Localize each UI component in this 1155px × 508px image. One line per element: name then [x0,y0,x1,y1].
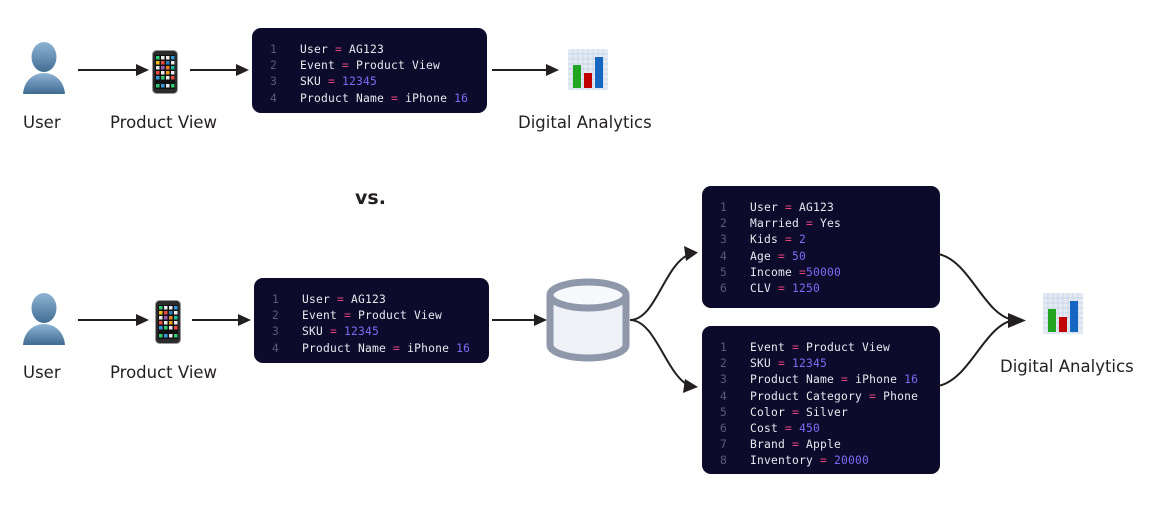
code-key: CLV [750,282,778,295]
code-gap [792,422,799,435]
code-gap [799,341,806,354]
code-value: iPhone [855,373,904,386]
code-key: Product Category [750,390,869,403]
code-line: 2Married = Yes [720,216,924,232]
code-line: 2Event = Product View [272,308,473,324]
code-line: 3Product Name = iPhone 16 [720,372,924,388]
smartphone-icon [155,300,181,344]
code-value: 12345 [342,75,377,88]
code-line: 3SKU = 12345 [270,74,471,90]
code-value: 20000 [834,454,869,467]
vs-divider-label: vs. [355,187,386,209]
code-value: Yes [820,217,841,230]
code-line-number: 4 [270,91,300,107]
code-equals: = [792,406,799,419]
code-value: Phone [883,390,918,403]
arrow-device-to-payload [190,62,250,78]
code-equals: = [792,341,799,354]
code-equals: = [792,438,799,451]
code-value: 50 [792,250,806,263]
code-value: Product View [358,309,442,322]
code-equals: = [337,293,344,306]
code-equals: = [391,92,398,105]
code-key: Brand [750,438,792,451]
code-value: iPhone [405,92,454,105]
code-gap [400,342,407,355]
code-line-number: 2 [270,58,300,74]
split-arrows-from-database [628,230,708,410]
code-line: 4Product Name = iPhone 16 [270,91,471,107]
arrow-user-to-device [78,62,150,78]
code-gap [351,309,358,322]
code-line-number: 3 [272,324,302,340]
code-value: Silver [806,406,848,419]
code-value: 12345 [792,357,827,370]
code-key: Event [750,341,792,354]
code-equals: = [328,75,335,88]
code-equals: = [785,233,792,246]
customer-attributes-code-block: 1User = AG1232Married = Yes3Kids = 24Age… [702,186,940,308]
bar-chart-icon [568,49,608,90]
code-key: SKU [302,325,330,338]
code-line: 4Product Name = iPhone 16 [272,341,473,357]
code-line-number: 6 [720,421,750,437]
code-line: 8Inventory = 20000 [720,453,924,469]
arrow-payload-to-analytics [492,62,560,78]
code-equals: = [820,454,827,467]
code-equals: = [330,325,337,338]
top-device-label: Product View [110,113,217,132]
code-key: Married [750,217,806,230]
code-key: Event [302,309,344,322]
code-line-number: 2 [720,216,750,232]
code-equals: = [778,357,785,370]
code-key: Product Name [750,373,841,386]
code-gap [876,390,883,403]
code-value: iPhone [407,342,456,355]
code-value: 1250 [792,282,820,295]
code-line: 4Age = 50 [720,249,924,265]
code-gap [785,250,792,263]
code-value: 50000 [806,266,841,279]
code-key: SKU [750,357,778,370]
code-line: 3SKU = 12345 [272,324,473,340]
code-line: 2Event = Product View [270,58,471,74]
code-line-number: 1 [270,42,300,58]
code-key: Color [750,406,792,419]
code-line-number: 4 [272,341,302,357]
code-line: 1User = AG123 [270,42,471,58]
code-equals: = [778,250,785,263]
bottom-device-label: Product View [110,363,217,382]
code-equals: = [869,390,876,403]
code-value: Apple [806,438,841,451]
code-gap [848,373,855,386]
code-gap [813,217,820,230]
code-equals: = [785,201,792,214]
code-gap [792,233,799,246]
code-line: 1User = AG123 [720,200,924,216]
code-key: Product Name [302,342,393,355]
event-payload-code-block: 1User = AG1232Event = Product View3SKU =… [252,28,487,113]
code-gap [344,293,351,306]
code-equals: = [785,422,792,435]
code-line: 4Product Category = Phone [720,389,924,405]
code-value: Product View [806,341,890,354]
code-gap [342,43,349,56]
code-line: 6CLV = 1250 [720,281,924,297]
code-equals: = [344,309,351,322]
top-user-label: User [23,113,61,132]
code-gap [398,92,405,105]
code-value: Product View [356,59,440,72]
code-gap [337,325,344,338]
code-value-number: 16 [904,373,918,386]
code-line-number: 5 [720,405,750,421]
code-key: Inventory [750,454,820,467]
code-value: AG123 [349,43,384,56]
code-value: 2 [799,233,806,246]
code-line: 6Cost = 450 [720,421,924,437]
code-line-number: 1 [272,292,302,308]
code-value-number: 16 [454,92,468,105]
code-line-number: 6 [720,281,750,297]
code-line: 7Brand = Apple [720,437,924,453]
event-payload-code-block: 1User = AG1232Event = Product View3SKU =… [254,278,489,363]
code-gap [799,438,806,451]
arrow-payload-to-database [492,312,548,328]
code-line-number: 4 [720,389,750,405]
bar-chart-icon [1043,293,1083,334]
code-line: 5Income =50000 [720,265,924,281]
code-key: Income [750,266,799,279]
code-line-number: 2 [720,356,750,372]
code-value: 450 [799,422,820,435]
code-line: 3Kids = 2 [720,232,924,248]
code-key: Kids [750,233,785,246]
product-attributes-code-block: 1Event = Product View2SKU = 123453Produc… [702,326,940,474]
code-key: SKU [300,75,328,88]
code-equals: = [841,373,848,386]
code-gap [792,201,799,214]
code-equals: = [806,217,813,230]
code-value: AG123 [799,201,834,214]
smartphone-icon [152,50,178,94]
code-equals: = [778,282,785,295]
code-gap [799,406,806,419]
code-line-number: 1 [720,200,750,216]
code-key: Cost [750,422,785,435]
bottom-analytics-label: Digital Analytics [1000,357,1134,376]
user-avatar-icon [22,291,66,347]
code-gap [827,454,834,467]
code-key: Product Name [300,92,391,105]
code-key: User [302,293,337,306]
code-line-number: 1 [720,340,750,356]
code-line-number: 2 [272,308,302,324]
code-key: Age [750,250,778,263]
user-avatar-icon [22,40,66,96]
code-line: 1User = AG123 [272,292,473,308]
code-gap [349,59,356,72]
code-key: User [750,201,785,214]
top-analytics-label: Digital Analytics [518,113,652,132]
code-value: AG123 [351,293,386,306]
code-gap [335,75,342,88]
code-line: 1Event = Product View [720,340,924,356]
code-line: 5Color = Silver [720,405,924,421]
code-line-number: 7 [720,437,750,453]
code-line-number: 3 [720,232,750,248]
merge-arrows-to-analytics [938,230,1036,410]
code-equals: = [335,43,342,56]
database-cylinder-icon [545,281,631,359]
arrow-user-to-device [78,312,150,328]
code-equals: = [342,59,349,72]
code-key: Event [300,59,342,72]
code-value-number: 16 [456,342,470,355]
code-line-number: 3 [270,74,300,90]
code-line: 2SKU = 12345 [720,356,924,372]
code-line-number: 4 [720,249,750,265]
code-equals: = [393,342,400,355]
code-line-number: 8 [720,453,750,469]
code-gap [785,282,792,295]
arrow-device-to-payload [192,312,252,328]
code-gap [785,357,792,370]
code-line-number: 3 [720,372,750,388]
diagram-canvas: User [0,0,1155,508]
bottom-user-label: User [23,363,61,382]
code-equals: = [799,266,806,279]
code-key: User [300,43,335,56]
code-value: 12345 [344,325,379,338]
code-line-number: 5 [720,265,750,281]
